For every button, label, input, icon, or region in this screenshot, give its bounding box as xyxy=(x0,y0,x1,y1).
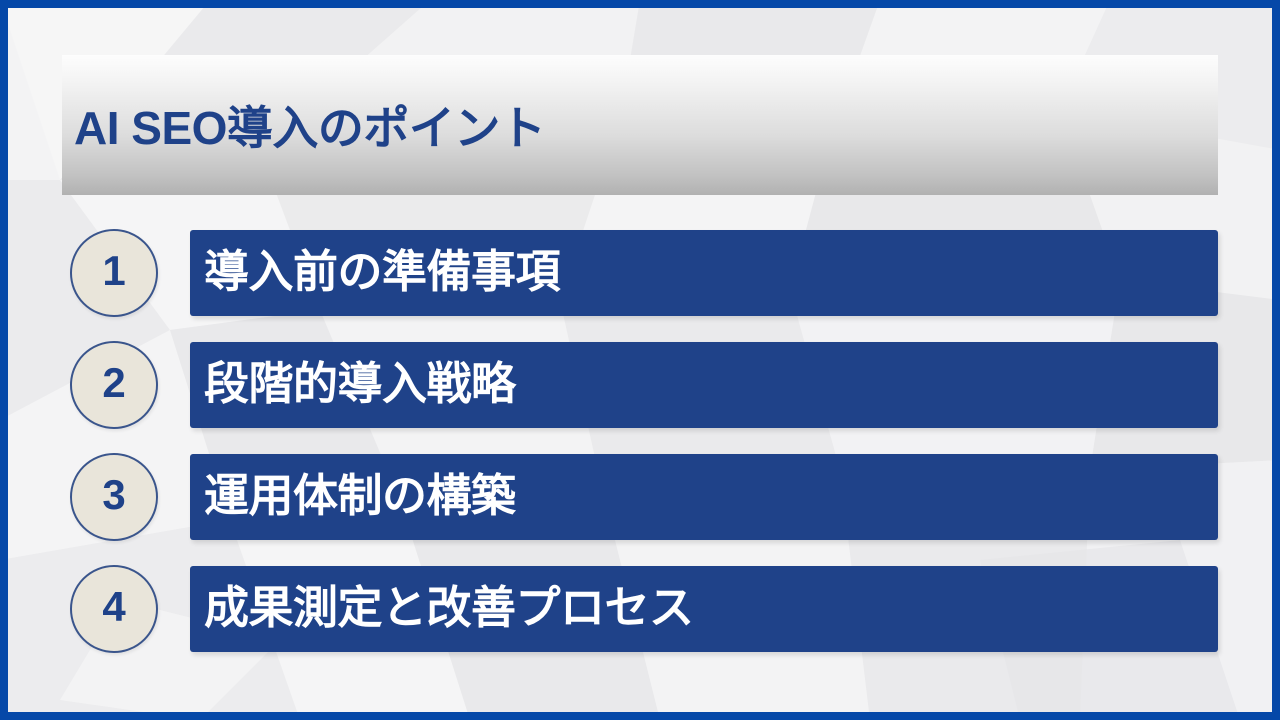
points-list: 1 導入前の準備事項 2 段階的導入戦略 3 運用体制の構築 4 xyxy=(0,218,1280,666)
page-title: AI SEO導入のポイント xyxy=(74,55,545,195)
list-item[interactable]: 1 導入前の準備事項 xyxy=(0,218,1280,330)
slide-header-bar: AI SEO導入のポイント xyxy=(62,55,1218,195)
point-number-label: 2 xyxy=(102,362,125,404)
list-item[interactable]: 4 成果測定と改善プロセス xyxy=(0,554,1280,666)
point-label: 運用体制の構築 xyxy=(190,473,516,518)
point-number-label: 4 xyxy=(102,586,125,628)
point-bar-2[interactable]: 段階的導入戦略 xyxy=(190,342,1218,428)
presentation-slide: AI SEO導入のポイント 1 導入前の準備事項 2 段階的導入戦略 3 xyxy=(0,0,1280,720)
point-bar-1[interactable]: 導入前の準備事項 xyxy=(190,230,1218,316)
point-number-label: 3 xyxy=(102,474,125,516)
point-label: 導入前の準備事項 xyxy=(190,249,560,294)
list-item[interactable]: 3 運用体制の構築 xyxy=(0,442,1280,554)
list-item[interactable]: 2 段階的導入戦略 xyxy=(0,330,1280,442)
point-bar-3[interactable]: 運用体制の構築 xyxy=(190,454,1218,540)
point-label: 段階的導入戦略 xyxy=(190,361,516,406)
point-label: 成果測定と改善プロセス xyxy=(190,585,694,630)
point-bar-4[interactable]: 成果測定と改善プロセス xyxy=(190,566,1218,652)
point-number-badge-2: 2 xyxy=(70,341,158,429)
point-number-badge-3: 3 xyxy=(70,453,158,541)
point-number-badge-4: 4 xyxy=(70,565,158,653)
point-number-badge-1: 1 xyxy=(70,229,158,317)
point-number-label: 1 xyxy=(102,250,125,292)
